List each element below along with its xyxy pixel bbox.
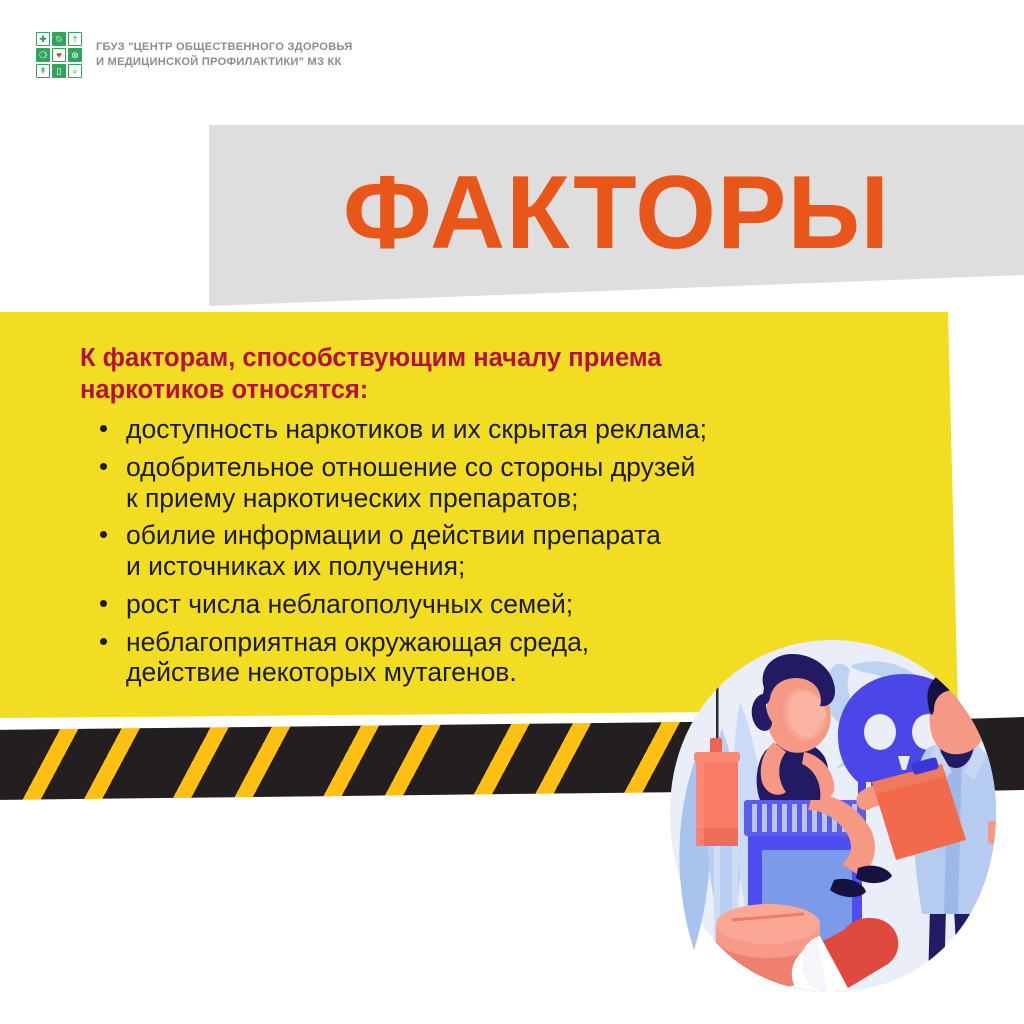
drug-abuse-illustration xyxy=(636,632,1024,1024)
apple-icon: ❍ xyxy=(36,48,50,62)
brand-header: ✚ ⍉ † ❍ ♥ ⊗ ↟ ▯ ⌕ ГБУЗ "ЦЕНТР ОБЩЕСТВЕНН… xyxy=(36,32,352,78)
health-grid-logo-icon: ✚ ⍉ † ❍ ♥ ⊗ ↟ ▯ ⌕ xyxy=(36,32,82,78)
thermometer-icon: ▯ xyxy=(52,64,66,78)
list-item: одобрительное отношение со стороны друзе… xyxy=(94,452,890,513)
list-heading: К факторам, способствующим началу приема… xyxy=(80,342,890,406)
plus-cross-icon: ✚ xyxy=(36,32,50,46)
syringe-icon xyxy=(694,738,740,846)
heart-icon: ♥ xyxy=(52,48,66,62)
magnifier-icon: ⌕ xyxy=(68,64,82,78)
no-smoking-icon: ⊗ xyxy=(68,48,82,62)
list-item: доступность наркотиков и их скрытая рекл… xyxy=(94,414,890,445)
list-item: обилие информации о действии препарата и… xyxy=(94,520,890,581)
bicycle-icon: ⍉ xyxy=(52,32,66,46)
title-banner: ФАКТОРЫ xyxy=(0,112,1024,322)
poster-canvas: ✚ ⍉ † ❍ ♥ ⊗ ↟ ▯ ⌕ ГБУЗ "ЦЕНТР ОБЩЕСТВЕНН… xyxy=(0,0,1024,1024)
page-title: ФАКТОРЫ xyxy=(209,125,1024,306)
running-person-icon: ↟ xyxy=(36,64,50,78)
organization-name: ГБУЗ "ЦЕНТР ОБЩЕСТВЕННОГО ЗДОРОВЬЯ И МЕД… xyxy=(96,40,352,70)
list-item: рост числа неблагополучных семей; xyxy=(94,589,890,620)
person-icon: † xyxy=(68,32,82,46)
